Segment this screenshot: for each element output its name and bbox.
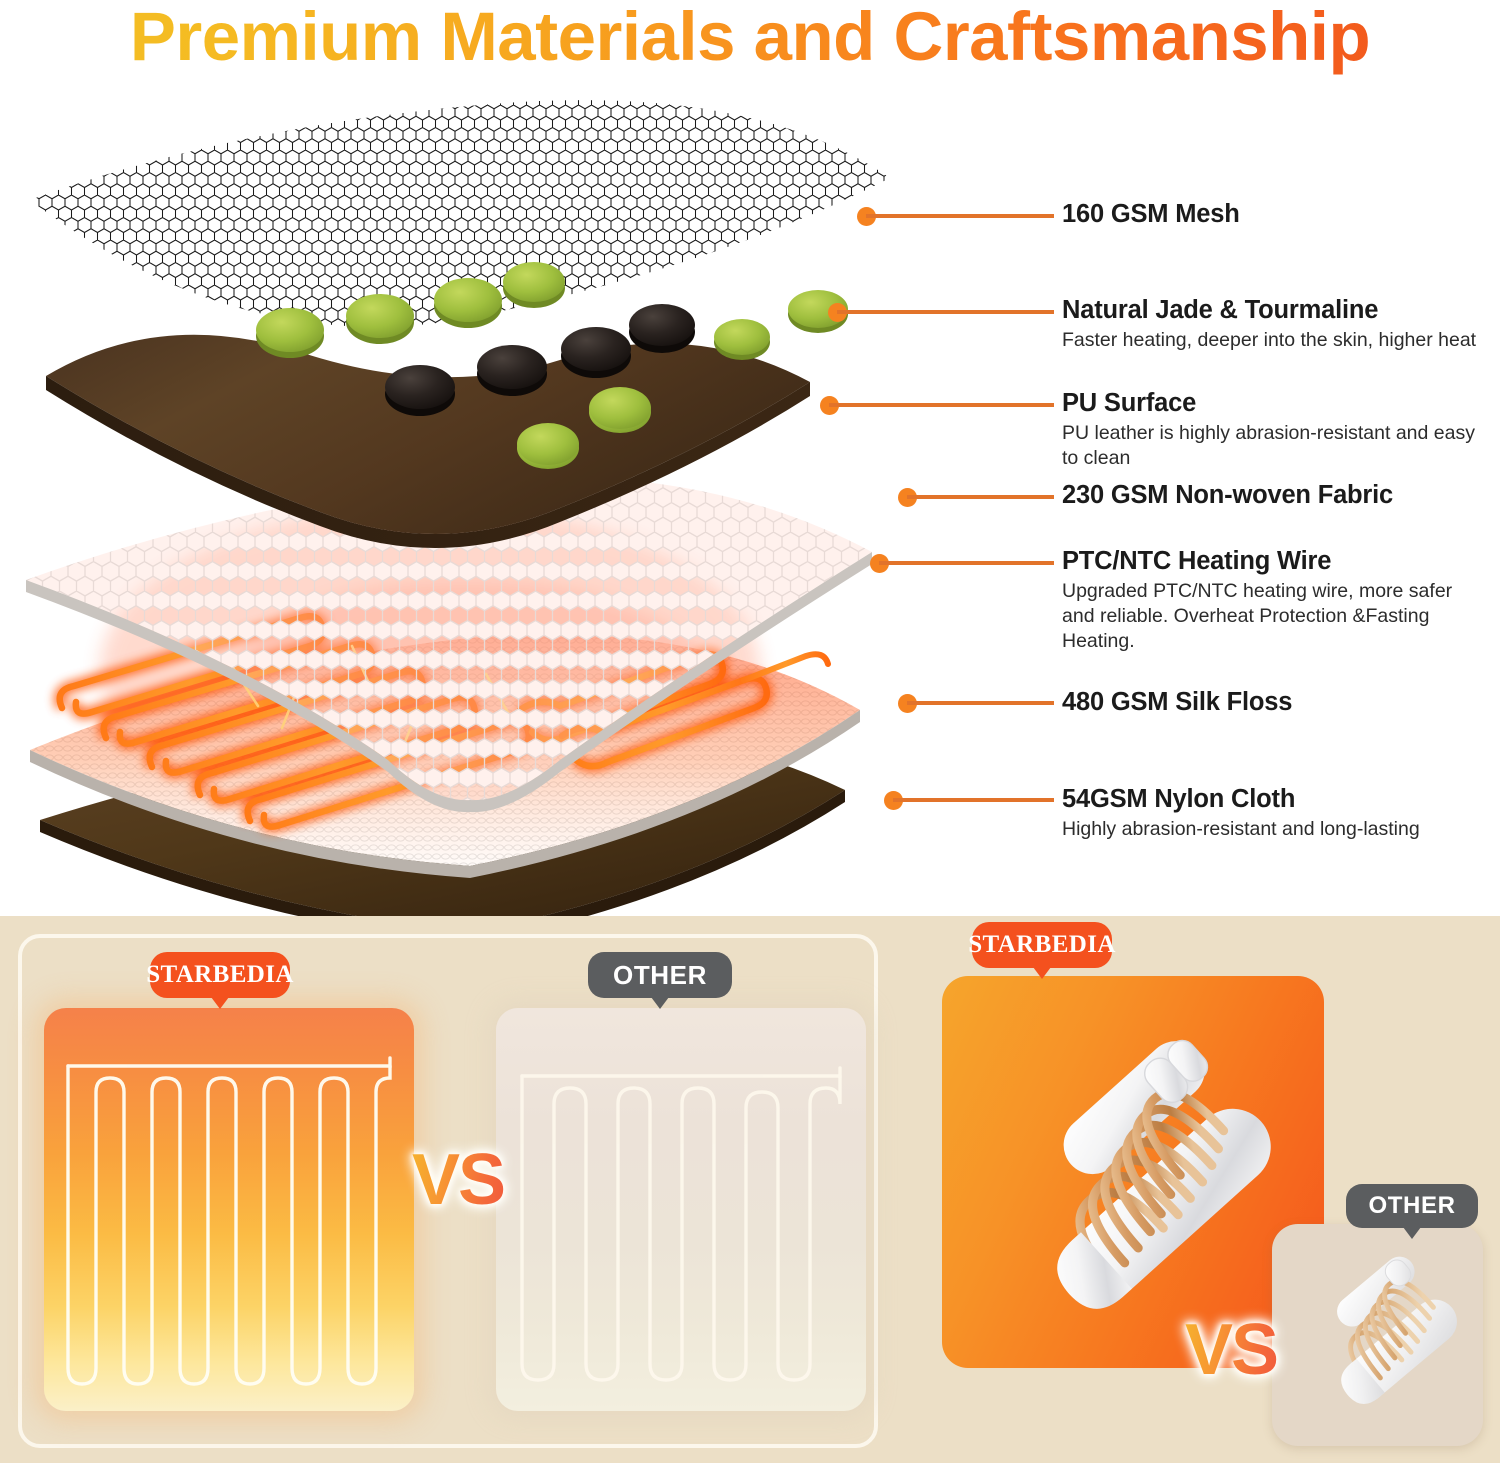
leader-line-non-woven	[907, 495, 1054, 499]
badge-starbedia-wire-label: STARBEDIA	[968, 931, 1116, 959]
badge-pointer-icon	[651, 997, 669, 1009]
badge-other-pad: OTHER	[588, 952, 732, 998]
label-mesh-heading: 160 GSM Mesh	[1062, 199, 1492, 229]
label-pu-heading: PU Surface	[1062, 388, 1492, 418]
leader-line-silk-floss	[907, 701, 1054, 705]
leader-line-jade	[837, 310, 1054, 314]
badge-starbedia-pad: STARBEDIA	[150, 952, 290, 998]
vs-label-wires: VS	[1185, 1314, 1277, 1386]
heating-wire-inset-other	[1272, 1224, 1483, 1446]
label-nylon-heading: 54GSM Nylon Cloth	[1062, 784, 1492, 814]
leader-line-mesh	[866, 214, 1054, 218]
badge-other-wire: OTHER	[1346, 1184, 1478, 1228]
label-non-woven-heading: 230 GSM Non-woven Fabric	[1062, 480, 1492, 510]
label-heating-wire-description: Upgraded PTC/NTC heating wire, more safe…	[1062, 579, 1482, 654]
label-nylon-cloth: 54GSM Nylon Cloth Highly abrasion-resist…	[1062, 784, 1492, 842]
label-pu-description: PU leather is highly abrasion-resistant …	[1062, 421, 1492, 471]
label-jade-heading: Natural Jade & Tourmaline	[1062, 295, 1492, 325]
comparison-band: STARBEDIA OTHER	[0, 916, 1500, 1463]
badge-pointer-icon	[211, 997, 229, 1009]
label-nylon-description: Highly abrasion-resistant and long-lasti…	[1062, 817, 1492, 842]
badge-starbedia-wire: STARBEDIA	[972, 922, 1112, 968]
vs-label-pads: VS	[412, 1144, 504, 1216]
label-heating-wire-heading: PTC/NTC Heating Wire	[1062, 546, 1482, 576]
badge-other-pad-label: OTHER	[613, 960, 707, 991]
label-heating-wire: PTC/NTC Heating Wire Upgraded PTC/NTC he…	[1062, 546, 1482, 654]
label-jade-tourmaline: Natural Jade & Tourmaline Faster heating…	[1062, 295, 1492, 353]
label-silk-floss-heading: 480 GSM Silk Floss	[1062, 687, 1492, 717]
leader-line-heating-wire	[879, 561, 1054, 565]
leader-line-pu-surface	[829, 403, 1054, 407]
infographic-page: Premium Materials and Craftsmanship	[0, 0, 1500, 1463]
label-non-woven: 230 GSM Non-woven Fabric	[1062, 480, 1492, 510]
exploded-layer-diagram	[0, 60, 1040, 920]
heating-pad-starbedia	[44, 1008, 414, 1411]
label-pu-surface: PU Surface PU leather is highly abrasion…	[1062, 388, 1492, 471]
label-mesh: 160 GSM Mesh	[1062, 199, 1492, 229]
badge-pointer-icon	[1403, 1227, 1421, 1239]
badge-starbedia-pad-label: STARBEDIA	[146, 961, 294, 989]
badge-pointer-icon	[1033, 967, 1051, 979]
leader-line-nylon-cloth	[893, 798, 1054, 802]
label-silk-floss: 480 GSM Silk Floss	[1062, 687, 1492, 717]
label-jade-description: Faster heating, deeper into the skin, hi…	[1062, 328, 1492, 353]
heating-pad-other	[496, 1008, 866, 1411]
badge-other-wire-label: OTHER	[1369, 1192, 1456, 1220]
